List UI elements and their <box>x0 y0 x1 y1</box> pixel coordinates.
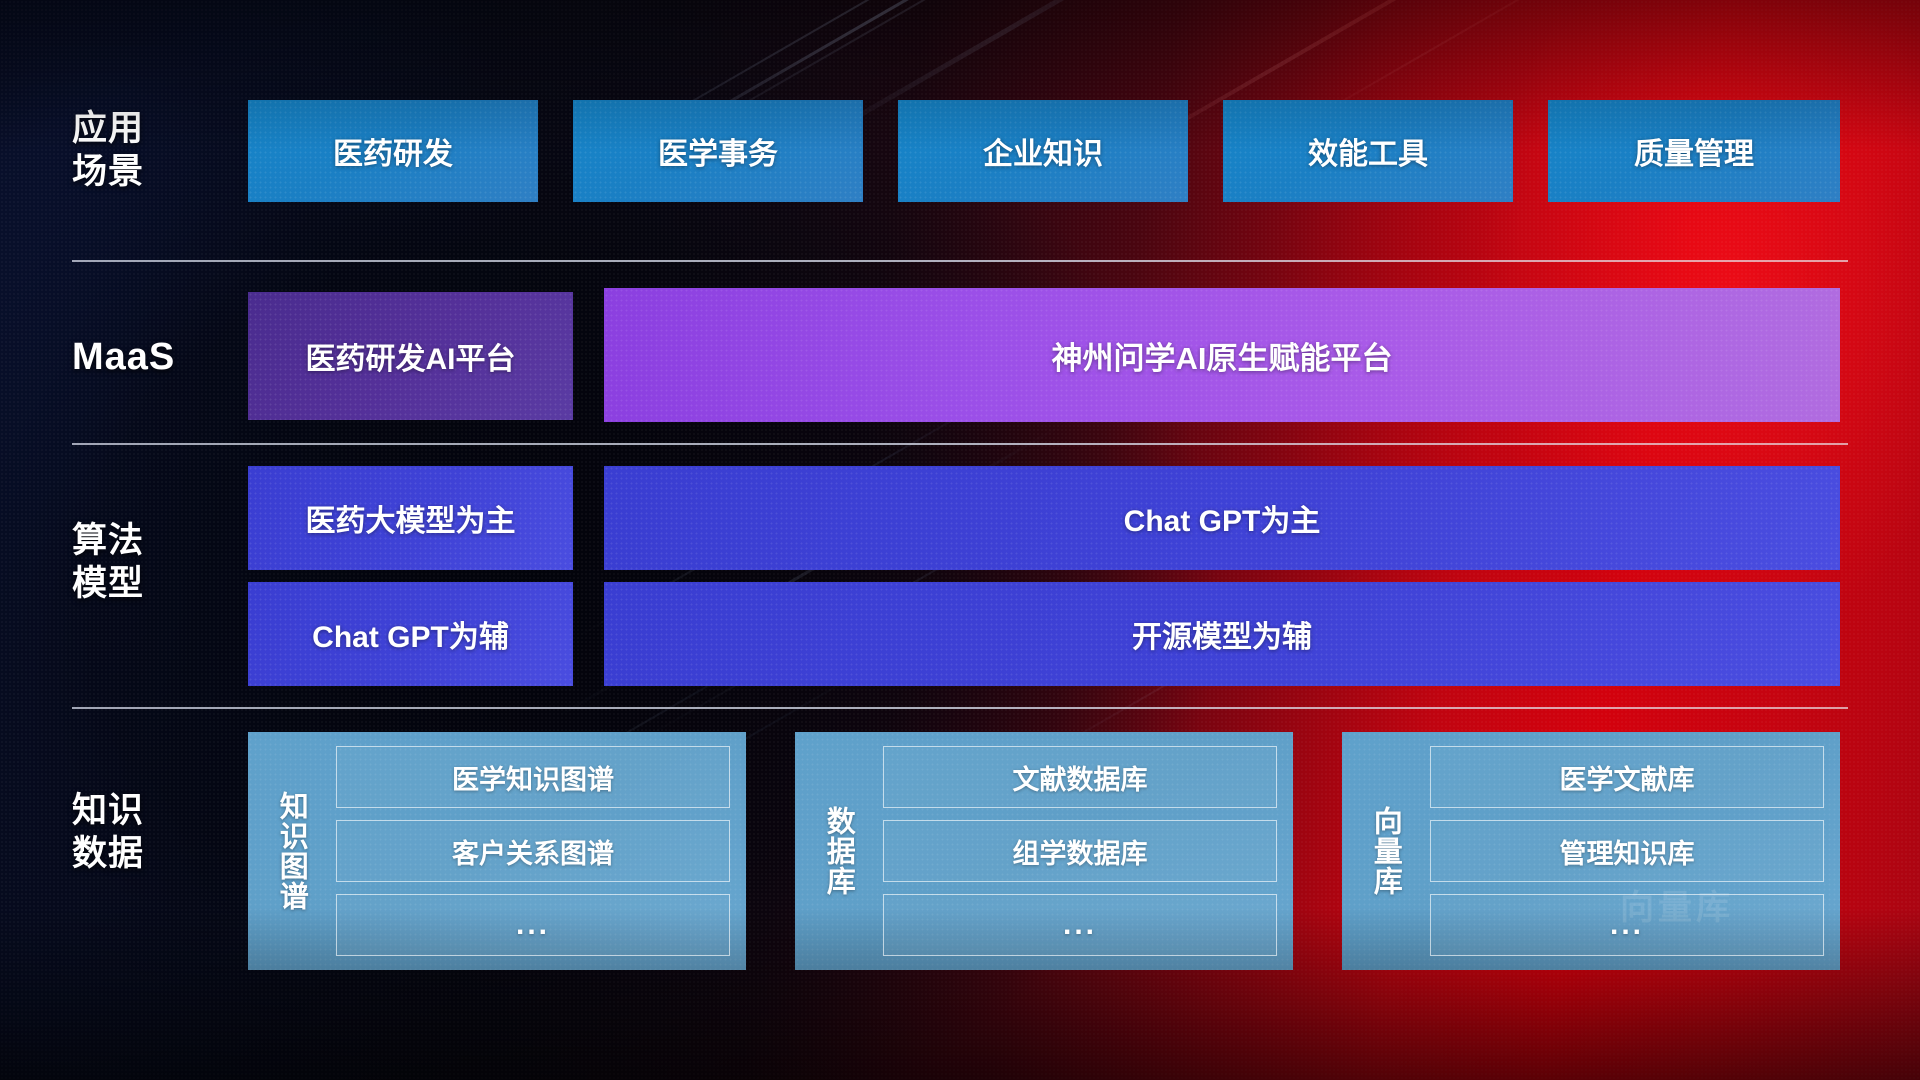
maas-box-label: 医药研发AI平台 <box>306 334 516 378</box>
divider-line-3 <box>72 707 1848 709</box>
algo-box-label: 开源模型为辅 <box>1132 612 1312 656</box>
architecture-diagram-slide: 应用 场景 医药研发 医学事务 企业知识 效能工具 质量管理 MaaS 医药研发… <box>0 0 1920 1080</box>
knowledge-item-list: 医学文献库 管理知识库 ... <box>1430 746 1824 956</box>
row-label-application-scenarios: 应用 场景 <box>72 108 252 193</box>
knowledge-group-knowledge-graph[interactable]: 知识图谱 医学知识图谱 客户关系图谱 ... <box>248 732 746 970</box>
knowledge-item-more[interactable]: ... <box>1430 894 1824 956</box>
divider-line-1 <box>72 260 1848 262</box>
knowledge-item[interactable]: 客户关系图谱 <box>336 820 730 882</box>
app-box-efficiency-tools[interactable]: 效能工具 <box>1223 100 1513 202</box>
algo-box-opensource-model-secondary[interactable]: 开源模型为辅 <box>604 582 1840 686</box>
app-box-label: 效能工具 <box>1308 129 1428 173</box>
row-label-maas: MaaS <box>72 334 252 380</box>
row-label-algorithm-model: 算法 模型 <box>72 520 252 605</box>
divider-line-2 <box>72 443 1848 445</box>
knowledge-item-more[interactable]: ... <box>336 894 730 956</box>
diagram-content: 应用 场景 医药研发 医学事务 企业知识 效能工具 质量管理 MaaS 医药研发… <box>0 0 1920 1080</box>
app-box-medical-affairs[interactable]: 医学事务 <box>573 100 863 202</box>
knowledge-item-more[interactable]: ... <box>883 894 1277 956</box>
maas-box-medicine-ai-platform[interactable]: 医药研发AI平台 <box>248 292 573 420</box>
app-box-label: 医学事务 <box>658 129 778 173</box>
algo-box-medicine-large-model-primary[interactable]: 医药大模型为主 <box>248 466 573 570</box>
knowledge-item[interactable]: 文献数据库 <box>883 746 1277 808</box>
algo-box-chatgpt-secondary[interactable]: Chat GPT为辅 <box>248 582 573 686</box>
knowledge-group-title: 向量库 <box>1356 746 1414 956</box>
knowledge-group-title: 数据库 <box>809 746 867 956</box>
knowledge-item-list: 医学知识图谱 客户关系图谱 ... <box>336 746 730 956</box>
app-box-label: 医药研发 <box>333 129 453 173</box>
app-box-medicine-rnd[interactable]: 医药研发 <box>248 100 538 202</box>
algo-box-label: Chat GPT为主 <box>1124 496 1321 540</box>
maas-box-shenzhou-wenxue-platform[interactable]: 神州问学AI原生赋能平台 <box>604 288 1840 422</box>
knowledge-item[interactable]: 医学文献库 <box>1430 746 1824 808</box>
knowledge-item[interactable]: 组学数据库 <box>883 820 1277 882</box>
knowledge-group-title: 知识图谱 <box>262 746 320 956</box>
knowledge-item-list: 文献数据库 组学数据库 ... <box>883 746 1277 956</box>
app-box-label: 质量管理 <box>1634 129 1754 173</box>
knowledge-group-database[interactable]: 数据库 文献数据库 组学数据库 ... <box>795 732 1293 970</box>
algo-box-chatgpt-primary[interactable]: Chat GPT为主 <box>604 466 1840 570</box>
algo-box-label: 医药大模型为主 <box>306 496 516 540</box>
app-box-quality-management[interactable]: 质量管理 <box>1548 100 1840 202</box>
knowledge-item[interactable]: 医学知识图谱 <box>336 746 730 808</box>
row-label-knowledge-data: 知识 数据 <box>72 790 252 875</box>
app-box-label: 企业知识 <box>983 129 1103 173</box>
maas-box-label: 神州问学AI原生赋能平台 <box>1052 333 1393 378</box>
knowledge-group-vector-store[interactable]: 向量库 医学文献库 管理知识库 ... <box>1342 732 1840 970</box>
app-box-enterprise-knowledge[interactable]: 企业知识 <box>898 100 1188 202</box>
knowledge-item[interactable]: 管理知识库 <box>1430 820 1824 882</box>
algo-box-label: Chat GPT为辅 <box>312 612 509 656</box>
